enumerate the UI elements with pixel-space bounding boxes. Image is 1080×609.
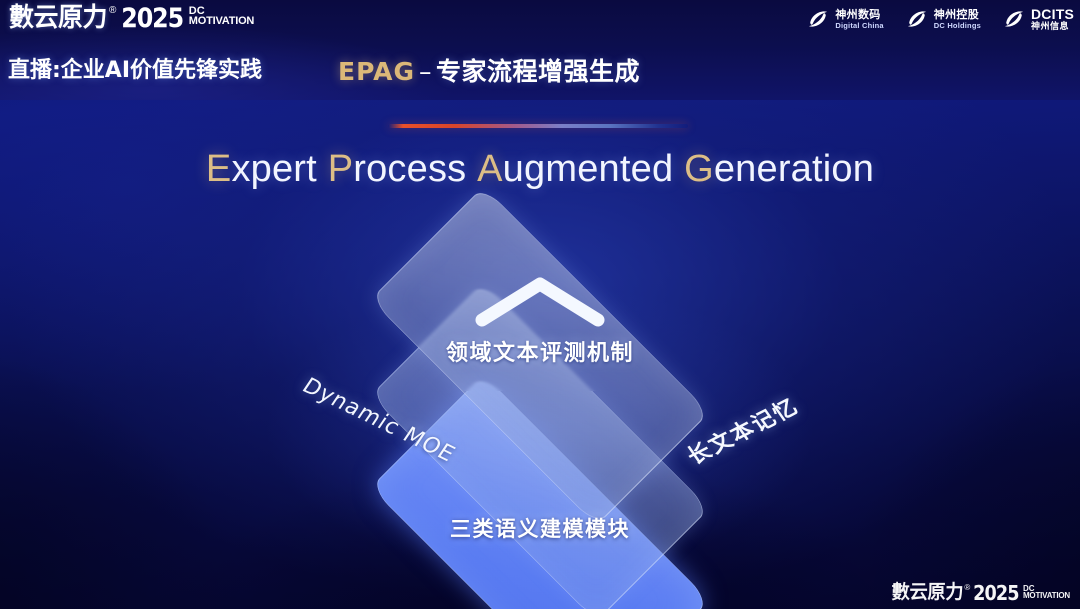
partner-name-cn: 神州数码 [835,9,883,20]
subtitle-rest-expert: xpert [231,148,316,190]
brand-logo-year: 2025 [122,5,184,32]
partner-name-en: Digital China [835,22,883,30]
partner-logo-dcits: DCITS 神州信息 [1001,6,1074,32]
subtitle-cap-a: A [477,148,503,190]
brand-logo-dc-motivation: DC MOTIVATION [189,7,254,27]
gradient-divider [388,124,688,128]
swirl-icon [805,6,831,32]
subtitle-rest-generation: eneration [714,148,874,190]
subtitle-rest-augmented: ugmented [503,148,674,190]
footer-watermark-logo: 數云原力 ® 2025 DC MOTIVATION [890,583,1070,603]
swirl-icon [904,6,930,32]
partner-logo-dc-holdings: 神州控股 DC Holdings [904,6,981,32]
subtitle-space-1 [317,148,328,190]
subtitle-cap-e: E [206,148,232,190]
swirl-icon [1001,6,1027,32]
partner-text-digital-china: 神州数码 Digital China [835,9,883,30]
slide-title-acronym: EPAG [338,57,415,86]
layered-architecture-diagram: 领域文本评测机制 Dynamic MOE 长文本记忆 三类语义建模模块 [260,238,820,568]
partner-name-cn: 神州信息 [1031,23,1074,32]
watermark-motivation-label: MOTIVATION [1023,592,1070,600]
live-broadcast-tag: 直播:企业AI价值先锋实践 [8,52,262,84]
subtitle-space-3 [673,148,684,190]
watermark-dc-motivation: DC MOTIVATION [1023,585,1070,600]
brand-motivation-label: MOTIVATION [189,16,254,27]
presentation-slide: 數云原力 ® 2025 DC MOTIVATION 直播:企业AI价值先锋实践 … [0,0,1080,609]
slide-title-dash: – [419,57,432,86]
slide-title: EPAG–专家流程增强生成 [338,52,640,88]
watermark-registered-mark: ® [964,584,970,592]
brand-registered-mark: ® [109,6,116,16]
partner-logo-digital-china: 神州数码 Digital China [805,6,883,32]
partner-name-cn: 神州控股 [934,9,981,20]
brand-logo-cn: 數云原力 [9,5,107,31]
english-subtitle: Expert Process Augmented Generation [0,148,1080,191]
partner-text-dcits: DCITS 神州信息 [1031,7,1074,32]
watermark-year: 2025 [973,583,1018,603]
slide-title-chinese: 专家流程增强生成 [436,57,640,86]
stack-layer-top[interactable] [380,196,700,516]
subtitle-cap-g: G [684,148,714,190]
watermark-cn: 數云原力 [891,583,963,602]
partner-name-en: DC Holdings [934,22,981,30]
subtitle-cap-p: P [328,148,354,190]
partner-logos: 神州数码 Digital China 神州控股 DC Holdings DCIT… [805,6,1074,32]
subtitle-space-2 [466,148,477,190]
subtitle-rest-process: rocess [353,148,466,190]
partner-text-dc-holdings: 神州控股 DC Holdings [934,9,981,30]
stack-layer-top-plate [370,186,709,525]
partner-name-en: DCITS [1031,7,1074,21]
brand-logo: 數云原力 ® 2025 DC MOTIVATION [7,5,254,32]
